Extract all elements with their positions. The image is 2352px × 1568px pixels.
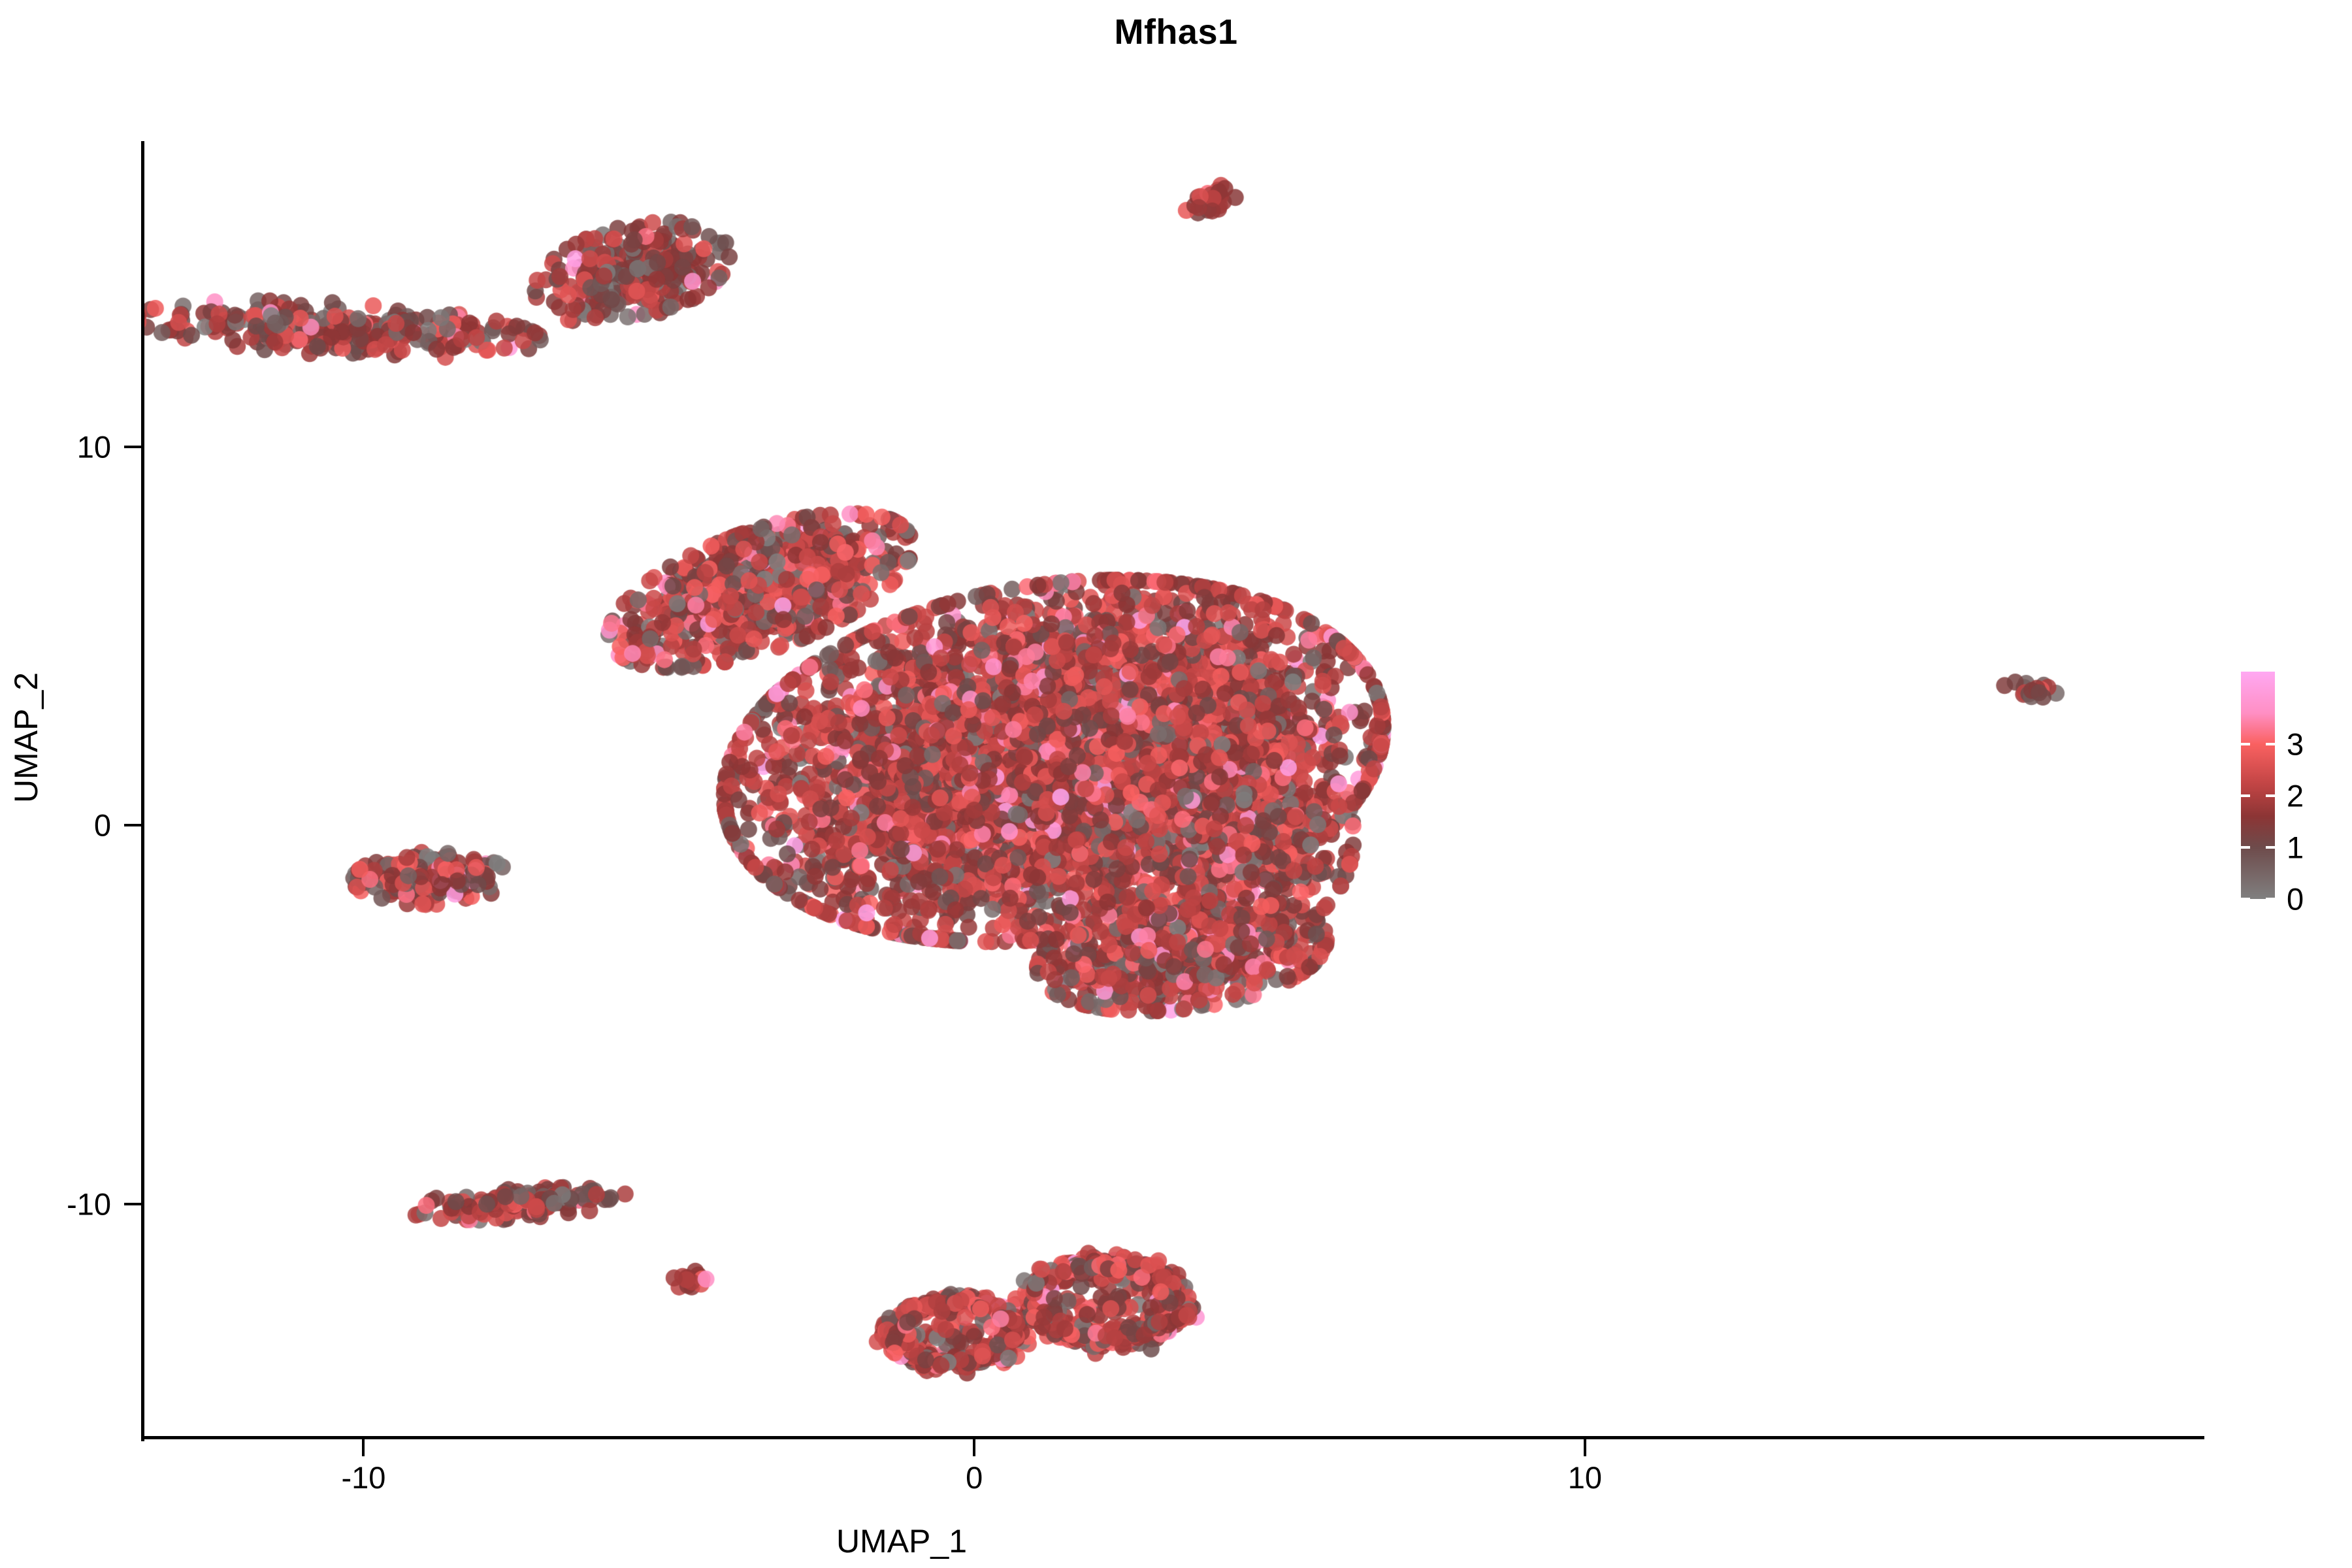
y-tick-label: 10 <box>77 431 111 462</box>
x-tick-label: -10 <box>342 1462 386 1493</box>
y-axis-label: UMAP_2 <box>7 600 45 875</box>
colorbar-tick-label: 2 <box>2287 780 2304 811</box>
scatter-point-layer <box>144 144 2202 1439</box>
y-tick-label: 0 <box>94 810 111 841</box>
scatter-plot-figure: Mfhas1 -10010 -10010 UMAP_1 UMAP_2 0123 <box>0 0 2352 1568</box>
colorbar-tick-mark <box>2266 743 2275 745</box>
plot-panel <box>144 144 2202 1439</box>
y-axis-line <box>141 141 144 1441</box>
x-tick-label: 10 <box>1568 1462 1602 1493</box>
colorbar-tick-label: 3 <box>2287 728 2304 759</box>
x-axis-line <box>141 1436 2204 1439</box>
page-title: Mfhas1 <box>0 12 2352 52</box>
colorbar-tick-label: 0 <box>2287 884 2304 915</box>
scatter-canvas <box>144 144 2202 1439</box>
y-tick-label: -10 <box>67 1188 111 1219</box>
y-tick-mark <box>124 824 141 826</box>
colorbar-legend: 0123 <box>2241 672 2345 907</box>
colorbar-gradient <box>2241 672 2275 899</box>
colorbar-tick-mark <box>2241 846 2250 849</box>
colorbar-tick-mark <box>2266 898 2275 900</box>
x-axis-label: UMAP_1 <box>0 1522 1803 1560</box>
colorbar-tick-mark <box>2241 898 2250 900</box>
x-tick-mark <box>362 1439 365 1456</box>
x-tick-mark <box>973 1439 975 1456</box>
y-tick-mark <box>124 1203 141 1205</box>
x-tick-mark <box>1584 1439 1586 1456</box>
x-tick-label: 0 <box>966 1462 983 1493</box>
colorbar-tick-mark <box>2266 846 2275 849</box>
colorbar-tick-mark <box>2241 794 2250 797</box>
y-tick-mark <box>124 446 141 448</box>
colorbar-tick-mark <box>2266 794 2275 797</box>
colorbar-tick-mark <box>2241 743 2250 745</box>
colorbar-tick-label: 1 <box>2287 832 2304 862</box>
